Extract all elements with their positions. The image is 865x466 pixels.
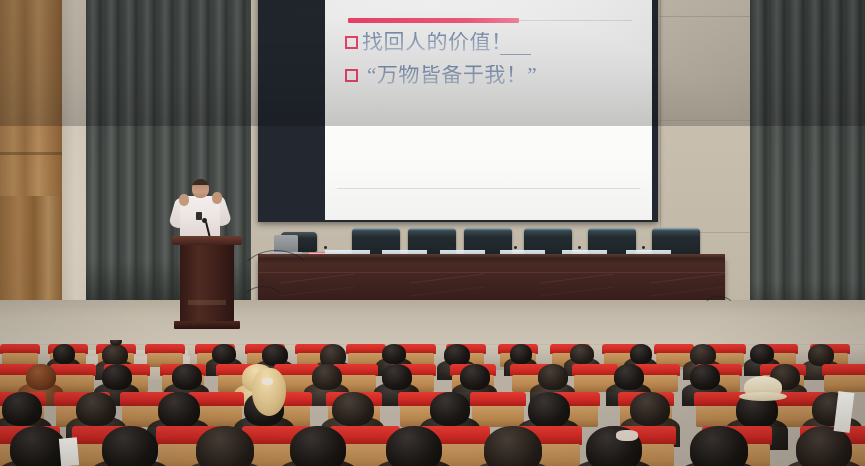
audience-hair-tie xyxy=(262,378,273,385)
speaker-right-hand xyxy=(212,192,222,204)
slide-accent-bar-tail xyxy=(519,20,632,21)
slide-line-2-text: “万物皆备于我！” xyxy=(367,65,537,86)
audience-member-head xyxy=(614,364,644,390)
audience-member-head xyxy=(10,426,66,466)
auditorium-photo: 找回人的价值！ “万物皆备于我！” 主持人 xyxy=(0,0,865,466)
audience-member-head xyxy=(158,392,200,428)
slide-bullet-line-1: 找回人的价值！ xyxy=(345,32,513,53)
audience-member-head xyxy=(2,392,42,426)
speaker-badge xyxy=(196,212,202,220)
wall-fixture-dot xyxy=(449,246,452,249)
audience-member-head xyxy=(430,392,470,426)
cable xyxy=(702,296,736,324)
slide-line-1-underline xyxy=(500,54,531,55)
wall-fixture-dot xyxy=(642,246,645,249)
speaker-left-hand xyxy=(179,194,189,206)
speaker-head xyxy=(192,179,209,198)
slide-bullet-line-2: “万物皆备于我！” xyxy=(345,65,537,86)
wall-seam xyxy=(660,16,760,17)
audience xyxy=(0,340,865,466)
wall-seam xyxy=(660,120,760,121)
audience-member-head xyxy=(102,344,128,366)
slide-footer-rule xyxy=(337,188,640,189)
checkbox-bullet-icon xyxy=(345,69,358,82)
audience-handout-paper xyxy=(59,437,79,466)
audience-member-head xyxy=(538,364,568,390)
audience-member-head xyxy=(630,344,652,364)
auditorium-seat-panel xyxy=(472,406,524,427)
audience-member-head xyxy=(690,344,716,366)
podium-emblem xyxy=(188,300,226,305)
audience-member-head xyxy=(332,392,374,426)
cable xyxy=(236,250,316,320)
audience-member-head xyxy=(262,344,288,366)
audience-member-head xyxy=(382,364,412,390)
stage-curtain-right xyxy=(750,0,865,318)
audience-bucket-hat-brim xyxy=(739,392,787,401)
audience-member-head xyxy=(630,392,670,426)
audience-member-head xyxy=(510,344,532,364)
auditorium-seat-panel xyxy=(824,375,865,392)
audience-member-head xyxy=(690,364,720,390)
audience-member-head xyxy=(484,426,542,466)
audience-member-head xyxy=(386,426,442,466)
audience-member-head xyxy=(808,344,834,366)
wall-fixture-dot xyxy=(324,246,327,249)
audience-blonde-ponytail xyxy=(252,368,286,416)
audience-member-head xyxy=(460,364,490,390)
audience-member-head xyxy=(102,364,132,390)
audience-member-head xyxy=(196,426,254,466)
audience-headband xyxy=(616,430,638,441)
audience-member-head xyxy=(53,344,75,364)
audience-member-head xyxy=(382,344,406,364)
audience-member-head xyxy=(290,426,346,466)
audience-member-head xyxy=(444,344,470,366)
audience-member-head xyxy=(212,344,236,364)
podium-top xyxy=(172,236,242,245)
slide-line-1-text: 找回人的价值！ xyxy=(362,32,513,53)
table-groove xyxy=(258,272,725,273)
audience-member-head xyxy=(26,364,56,390)
wall-fixture-dot xyxy=(578,246,581,249)
podium xyxy=(180,245,234,323)
audience-member-head xyxy=(570,344,594,364)
checkbox-bullet-icon xyxy=(345,36,358,49)
audience-member-head xyxy=(690,426,748,466)
audience-member-head xyxy=(528,392,570,428)
audience-member-head xyxy=(172,364,202,390)
audience-member-head xyxy=(750,344,774,364)
audience-member-head xyxy=(76,392,116,426)
audience-member-head xyxy=(102,426,158,466)
wall-fixture-dot xyxy=(514,246,517,249)
auditorium-seat-back xyxy=(470,392,526,406)
audience-member-head xyxy=(312,364,342,390)
podium-base xyxy=(174,321,240,329)
slide-accent-bar xyxy=(348,18,519,23)
